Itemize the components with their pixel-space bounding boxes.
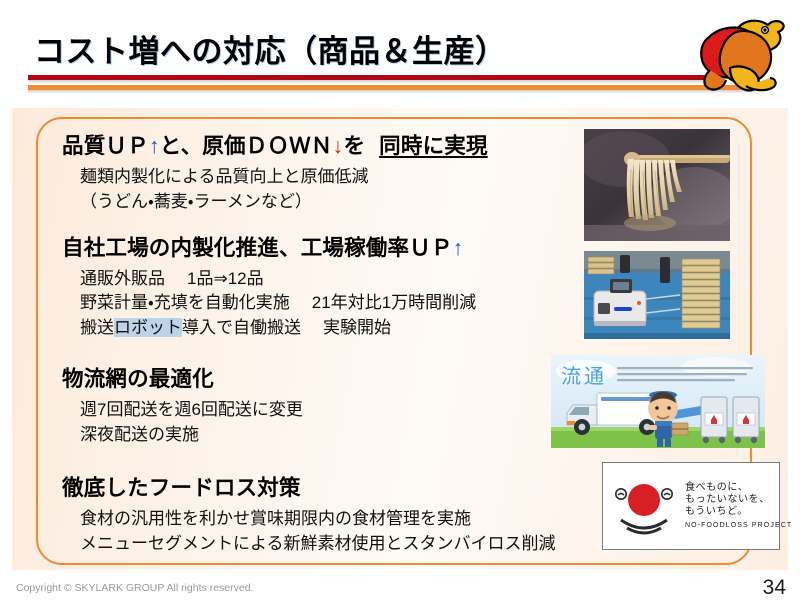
heading-text-main: 品質ＵＰ xyxy=(62,134,149,158)
block-line: 深夜配送の実施 xyxy=(62,423,582,448)
block-line: 週7回配送を週6回配送に変更 xyxy=(62,398,582,423)
foodloss-line-3: もういちど。 xyxy=(685,506,792,518)
line-part-a: 野菜計量・充填を自動化実施 xyxy=(80,293,290,312)
svg-text:流通: 流通 xyxy=(561,364,607,388)
block-line: 食材の汎用性を利かせ賞味期限内の食材管理を実施 xyxy=(62,507,582,532)
page-number: 34 xyxy=(763,576,786,600)
block-heading-quality: 品質ＵＰ↑と、原価ＤＯＷＮ↓を同時に実現 xyxy=(62,132,582,161)
arrow-up-icon: ↑ xyxy=(453,236,464,260)
line-part-pre: 搬送 xyxy=(80,318,114,337)
heading-text-underlined: 同時に実現 xyxy=(379,134,488,158)
line-part-post: 導入で自働搬送 xyxy=(182,318,301,337)
slide-root: コスト増への対応（商品＆生産） 品質ＵＰ↑と、原価ＤＯＷＮ↓を同時に実現 麺類内… xyxy=(0,0,800,604)
content-list: 品質ＵＰ↑と、原価ＤＯＷＮ↓を同時に実現 麺類内製化による品質向上と原価低減 （… xyxy=(62,132,582,560)
content-block-foodloss: 徹底したフードロス対策 食材の汎用性を利かせ賞味期限内の食材管理を実施 メニュー… xyxy=(62,474,582,557)
block-line: 野菜計量・充填を自動化実施21年対比1万時間削減 xyxy=(62,291,582,316)
block-line: 搬送ロボット導入で自働搬送実験開始 xyxy=(62,316,582,341)
foodloss-logo-text: 食べものに、 もったいないを、 もういちど。 NO-FOODLOSS PROJE… xyxy=(685,482,792,530)
line-part-a: 通販外販品 xyxy=(80,269,165,288)
no-foodloss-logo: 食べものに、 もったいないを、 もういちど。 NO-FOODLOSS PROJE… xyxy=(602,462,780,550)
content-block-quality: 品質ＵＰ↑と、原価ＤＯＷＮ↓を同時に実現 麺類内製化による品質向上と原価低減 （… xyxy=(62,132,582,215)
photo-noodles xyxy=(584,129,730,241)
foodloss-line-1: 食べものに、 xyxy=(685,482,792,494)
photo-robot xyxy=(584,251,730,339)
line-part-highlight: ロボット xyxy=(114,318,182,337)
arrow-up-icon: ↑ xyxy=(149,134,160,158)
block-line: 麺類内製化による品質向上と原価低減 xyxy=(62,165,582,190)
block-heading-foodloss: 徹底したフードロス対策 xyxy=(62,474,582,503)
heading-text-main: 自社工場の内製化推進、工場稼働率ＵＰ xyxy=(62,236,453,260)
slide-header: コスト増への対応（商品＆生産） xyxy=(0,0,800,100)
foodloss-line-2: もったいないを、 xyxy=(685,494,792,506)
foodloss-line-4: NO-FOODLOSS PROJECT xyxy=(685,522,792,531)
photo-logistics: 流通 xyxy=(551,355,765,448)
heading-text-tail: を xyxy=(343,134,365,158)
line-part-b: 実験開始 xyxy=(323,318,391,337)
skylark-bird-logo-icon xyxy=(686,8,792,100)
block-line: 通販外販品1品⇒12品 xyxy=(62,267,582,292)
copyright-notice: Copyright © SKYLARK GROUP All rights res… xyxy=(16,582,253,594)
heading-text-mid: と、原価ＤＯＷＮ xyxy=(160,134,333,158)
page-title: コスト増への対応（商品＆生産） xyxy=(34,26,507,71)
line-part-b: 1品⇒12品 xyxy=(187,269,264,288)
content-block-factory: 自社工場の内製化推進、工場稼働率ＵＰ↑ 通販外販品1品⇒12品 野菜計量・充填を… xyxy=(62,234,582,341)
title-rule-red xyxy=(28,75,722,80)
arrow-down-icon: ↓ xyxy=(333,134,344,158)
block-line: （うどん・蕎麦・ラーメンなど） xyxy=(62,190,582,215)
content-block-logistics: 物流網の最適化 週7回配送を週6回配送に変更 深夜配送の実施 xyxy=(62,365,582,448)
title-rule-orange xyxy=(28,85,756,90)
block-line: メニューセグメントによる新鮮素材使用とスタンバイロス削減 xyxy=(62,532,582,557)
block-heading-factory: 自社工場の内製化推進、工場稼働率ＵＰ↑ xyxy=(62,234,582,263)
block-heading-logistics: 物流網の最適化 xyxy=(62,365,582,394)
line-part-b: 21年対比1万時間削減 xyxy=(312,293,476,312)
foodloss-mark-icon xyxy=(611,476,677,536)
